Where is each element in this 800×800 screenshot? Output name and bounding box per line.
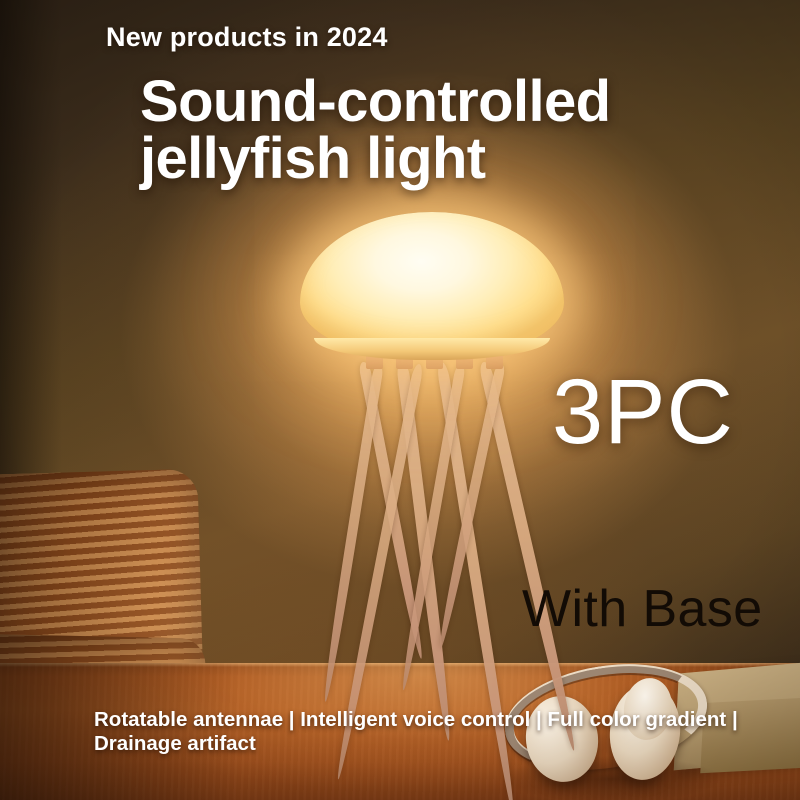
wall-corner-shadow xyxy=(0,0,62,520)
feature-list: Rotatable antennae | Intelligent voice c… xyxy=(94,708,750,756)
lamp-dome xyxy=(300,212,564,358)
base-note: With Base xyxy=(522,583,763,635)
lamp-dome-base xyxy=(314,338,550,360)
lamp-tentacle xyxy=(321,364,384,702)
kicker-text: New products in 2024 xyxy=(106,22,388,53)
quantity-badge: 3PC xyxy=(552,366,734,458)
page-title: Sound-controlled jellyfish light xyxy=(140,74,780,188)
product-poster: New products in 2024 Sound-controlled je… xyxy=(0,0,800,800)
